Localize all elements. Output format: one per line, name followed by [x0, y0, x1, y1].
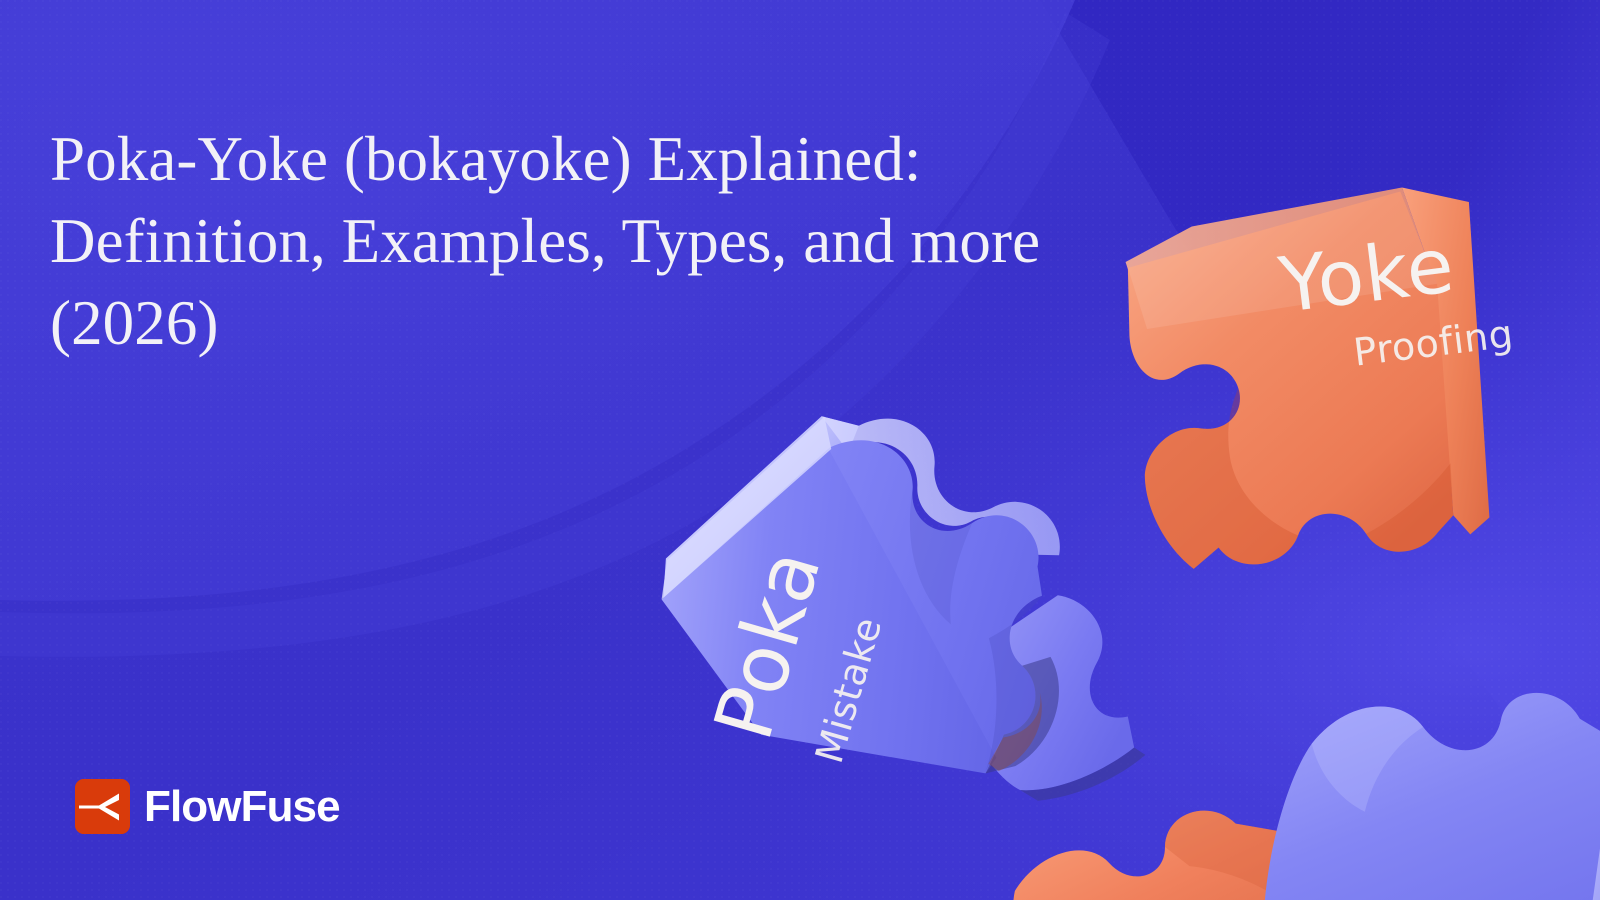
flowfuse-merge-icon — [75, 779, 130, 834]
puzzle-piece-yoke: Yoke Proofing — [1099, 159, 1540, 600]
puzzle-piece-blue-bottom-right — [1251, 662, 1600, 900]
hero-banner: Poka-Yoke (bokayoke) Explained: Definiti… — [0, 0, 1600, 900]
flowfuse-wordmark: FlowFuse — [144, 785, 340, 829]
flowfuse-logo[interactable]: FlowFuse — [75, 779, 340, 834]
